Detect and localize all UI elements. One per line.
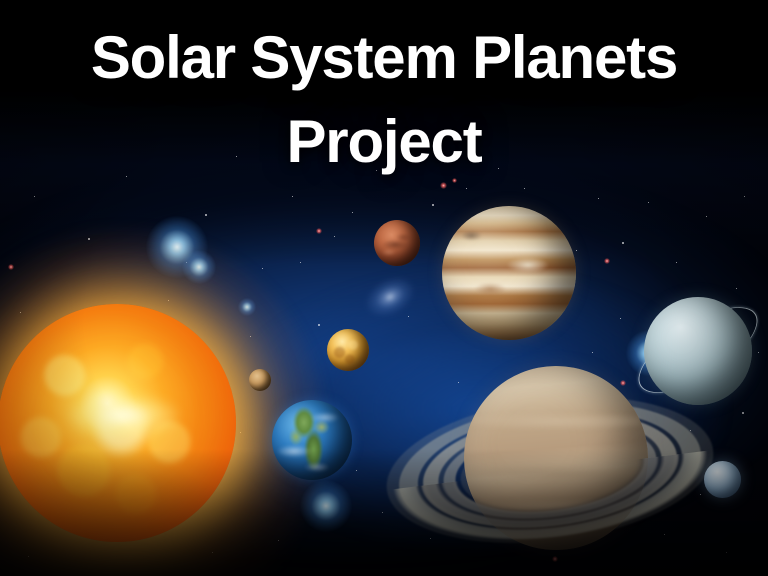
planet-uranus bbox=[644, 297, 752, 405]
title-line-2: Project bbox=[0, 100, 768, 184]
red-star-3 bbox=[604, 258, 610, 264]
planet-earth bbox=[272, 400, 352, 480]
planet-mars bbox=[374, 220, 420, 266]
page-title: Solar System Planets Project bbox=[0, 16, 768, 184]
red-star-2 bbox=[316, 228, 322, 234]
planet-mercury bbox=[249, 369, 271, 391]
planet-jupiter bbox=[442, 206, 576, 340]
title-line-1: Solar System Planets bbox=[0, 16, 768, 100]
sun-flare bbox=[69, 394, 178, 437]
sun bbox=[0, 300, 254, 560]
planet-venus bbox=[327, 329, 369, 371]
planet-neptune bbox=[704, 461, 741, 498]
solar-system-poster: Solar System Planets Project bbox=[0, 0, 768, 576]
sun-disc bbox=[0, 304, 236, 542]
